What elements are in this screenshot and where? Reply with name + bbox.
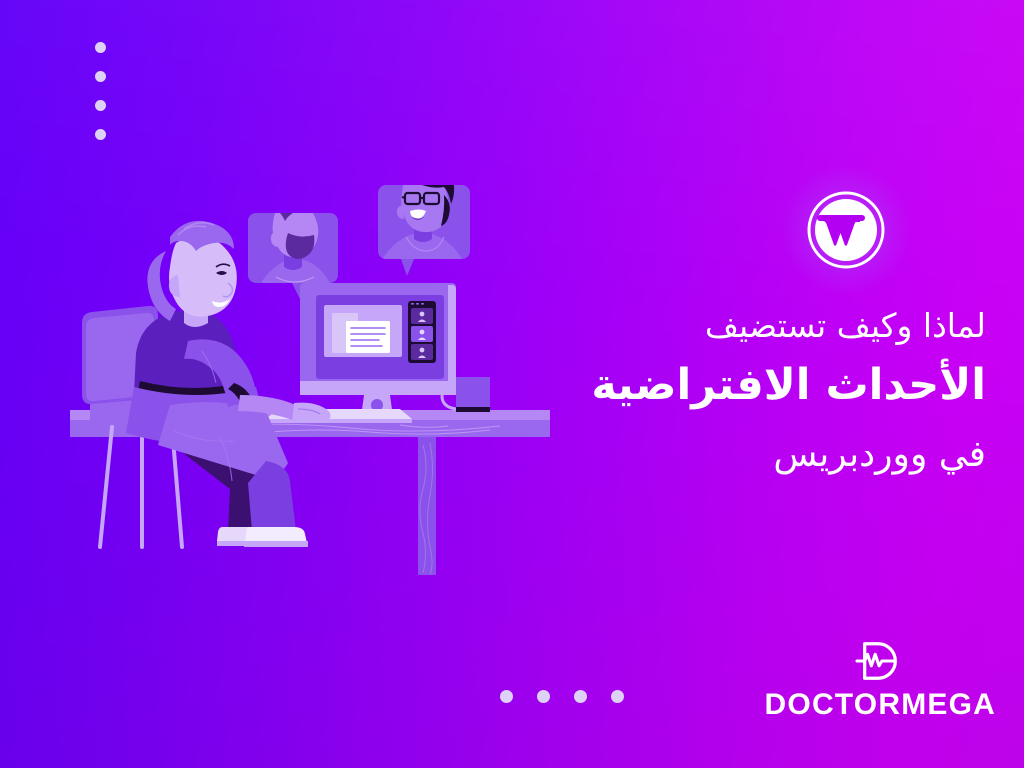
desktop-monitor (300, 283, 456, 421)
participant-thumbs (411, 308, 433, 360)
decor-dot (95, 71, 106, 82)
wordpress-badge (806, 190, 886, 270)
wordpress-logo-icon (806, 190, 886, 270)
promo-banner: لماذا وكيف تستضيف الأحداث الافتراضية في … (0, 0, 1024, 768)
decor-dot (95, 129, 106, 140)
brand-wordmark: DOCTORMEGA (765, 690, 996, 720)
headline-block: لماذا وكيف تستضيف الأحداث الافتراضية في … (516, 305, 986, 476)
decor-dot (95, 42, 106, 53)
decor-dot (95, 100, 106, 111)
headline-line-1: لماذا وكيف تستضيف (516, 305, 986, 346)
man-at-desk-video-call-illustration (70, 155, 550, 575)
headline-line-2: الأحداث الافتراضية (516, 360, 986, 411)
decor-dot (537, 690, 550, 703)
decor-dot (611, 690, 624, 703)
headline-line-3: في ووردبريس (516, 433, 986, 476)
speech-bubble-person-with-glasses (378, 164, 470, 276)
coffee-mug (442, 377, 498, 420)
decor-dot (500, 690, 513, 703)
doctormega-d-pulse-icon (851, 638, 909, 684)
illustration-svg (70, 155, 550, 575)
decor-dot (574, 690, 587, 703)
brand-logo: DOCTORMEGA (765, 638, 996, 720)
